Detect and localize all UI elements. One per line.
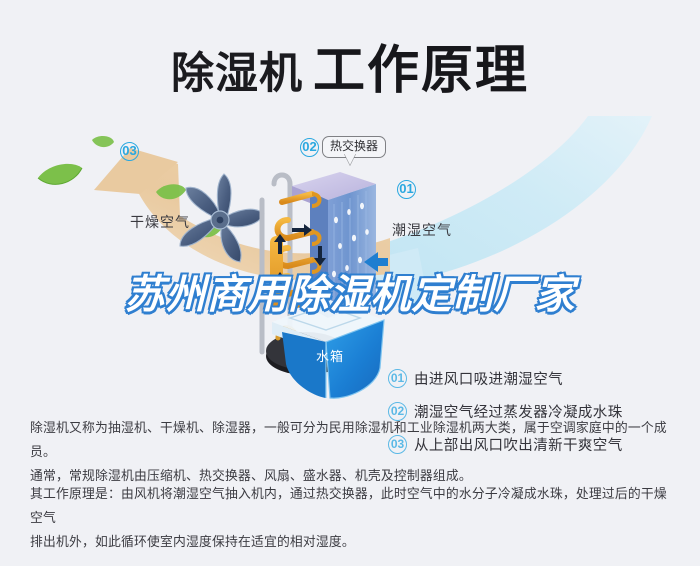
paragraph-line: 除湿机又称为抽湿机、干燥机、除湿器，一般可分为民用除湿机和工业除湿机两大类，属于… xyxy=(30,416,672,464)
callout-tail-icon xyxy=(344,153,356,165)
paragraph-line: 排出机外，如此循环使室内湿度保持在适宜的相对湿度。 xyxy=(30,530,672,554)
watermark-text: 苏州商用除湿机定制厂家 xyxy=(0,262,700,320)
list-item: 01 由进风口吸进潮湿空气 xyxy=(388,362,694,395)
page-title: 除湿机工作原理 xyxy=(0,28,700,103)
description-paragraph-2: 其工作原理是：由风机将潮湿空气抽入机内，通过热交换器，此时空气中的水分子冷凝成水… xyxy=(30,482,672,554)
diagram-badge-01: 01 xyxy=(397,180,416,199)
page-title-secondary: 工作原理 xyxy=(313,42,529,100)
step-number: 01 xyxy=(388,369,407,388)
dehumidifier-diagram: 01 02 03 热交换器 干燥空气 潮湿空气 水箱 01 由进风口吸进潮湿空气… xyxy=(0,118,700,388)
paragraph-line: 其工作原理是：由风机将潮湿空气抽入机内，通过热交换器，此时空气中的水分子冷凝成水… xyxy=(30,482,672,530)
diagram-badge-02: 02 xyxy=(300,138,319,157)
page-title-primary: 除湿机 xyxy=(171,50,303,98)
humid-air-label: 潮湿空气 xyxy=(392,220,452,240)
water-tank-label: 水箱 xyxy=(316,346,344,365)
diagram-badge-03: 03 xyxy=(120,142,139,161)
description-paragraph-1: 除湿机又称为抽湿机、干燥机、除湿器，一般可分为民用除湿机和工业除湿机两大类，属于… xyxy=(30,416,672,488)
dry-air-label: 干燥空气 xyxy=(130,212,190,232)
page-root: 除湿机工作原理 xyxy=(0,0,700,566)
step-text: 由进风口吸进潮湿空气 xyxy=(414,368,563,389)
